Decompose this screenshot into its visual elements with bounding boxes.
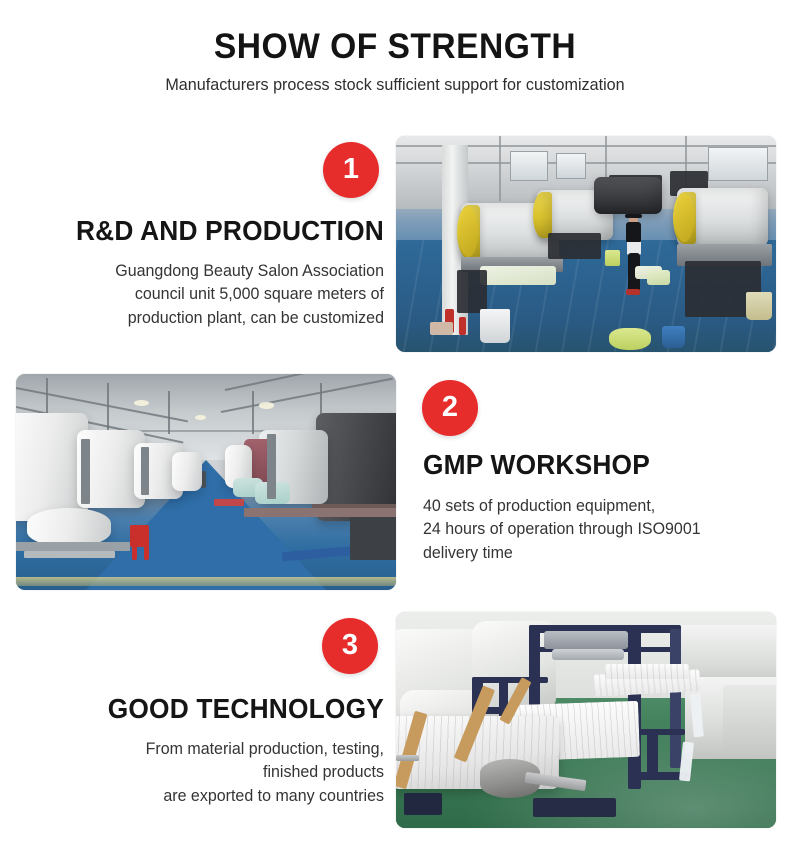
section-1-body-line: council unit 5,000 square meters of — [35, 283, 384, 306]
section-3-image — [396, 612, 776, 828]
section-2-body: 40 sets of production equipment, 24 hour… — [423, 495, 763, 565]
section-3-number: 3 — [342, 631, 358, 660]
section-3-heading: GOOD TECHNOLOGY — [46, 694, 384, 725]
section-3-body-line: are exported to many countries — [35, 785, 384, 808]
section-2-body-line: 24 hours of operation through ISO9001 — [423, 518, 763, 541]
section-1-body-line: Guangdong Beauty Salon Association — [35, 260, 384, 283]
section-1-number: 1 — [343, 155, 359, 184]
section-1-image — [396, 136, 776, 352]
section-3-body: From material production, testing, finis… — [35, 738, 384, 808]
page-subtitle: Manufacturers process stock sufficient s… — [20, 74, 771, 95]
section-3-text: GOOD TECHNOLOGY From material production… — [24, 694, 384, 808]
section-3-body-line: finished products — [35, 761, 384, 784]
section-2-heading: GMP WORKSHOP — [423, 450, 752, 481]
section-2-badge: 2 — [422, 380, 478, 436]
section-1-text: R&D AND PRODUCTION Guangdong Beauty Salo… — [24, 216, 384, 330]
section-1-body: Guangdong Beauty Salon Association counc… — [35, 260, 384, 330]
section-2-body-line: delivery time — [423, 542, 763, 565]
section-2-number: 2 — [442, 393, 458, 422]
section-3-badge: 3 — [322, 618, 378, 674]
promo-page: SHOW OF STRENGTH Manufacturers process s… — [0, 0, 790, 868]
page-title: SHOW OF STRENGTH — [16, 26, 774, 67]
section-1-badge: 1 — [323, 142, 379, 198]
section-2-text: GMP WORKSHOP 40 sets of production equip… — [423, 450, 773, 565]
section-1-heading: R&D AND PRODUCTION — [46, 216, 384, 247]
section-1-body-line: production plant, can be customized — [35, 307, 384, 330]
section-2-image — [16, 374, 396, 590]
page-header: SHOW OF STRENGTH Manufacturers process s… — [0, 26, 790, 96]
section-3-body-line: From material production, testing, — [35, 738, 384, 761]
section-2-body-line: 40 sets of production equipment, — [423, 495, 763, 518]
